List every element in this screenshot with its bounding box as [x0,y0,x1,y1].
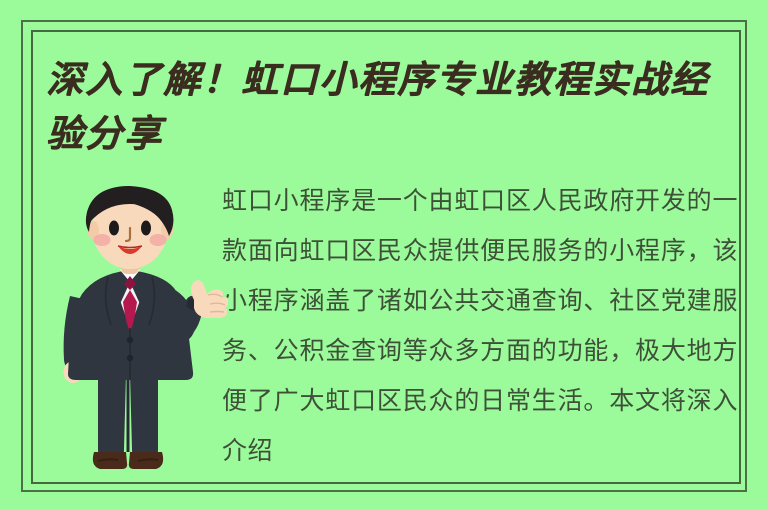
jacket-button-bottom [127,355,133,361]
trouser-gap [127,374,130,452]
shoe-right [129,452,163,469]
page-title: 深入了解！虹口小程序专业教程实战经验分享 [46,52,736,160]
poster-canvas: 深入了解！虹口小程序专业教程实战经验分享 虹口小程序是一个由虹口区人民政府开发的… [0,0,768,510]
body-paragraph: 虹口小程序是一个由虹口区人民政府开发的一款面向虹口区民众提供便民服务的小程序，该… [222,176,738,476]
cheek-left [94,234,111,246]
eye-left [109,221,119,236]
finger-line-3 [210,312,224,313]
jacket-button-top [127,337,133,343]
eye-right [141,221,151,236]
cheek-right [150,234,167,246]
trouser-right [130,373,158,456]
businessman-illustration [38,178,228,478]
trouser-left [98,373,126,456]
